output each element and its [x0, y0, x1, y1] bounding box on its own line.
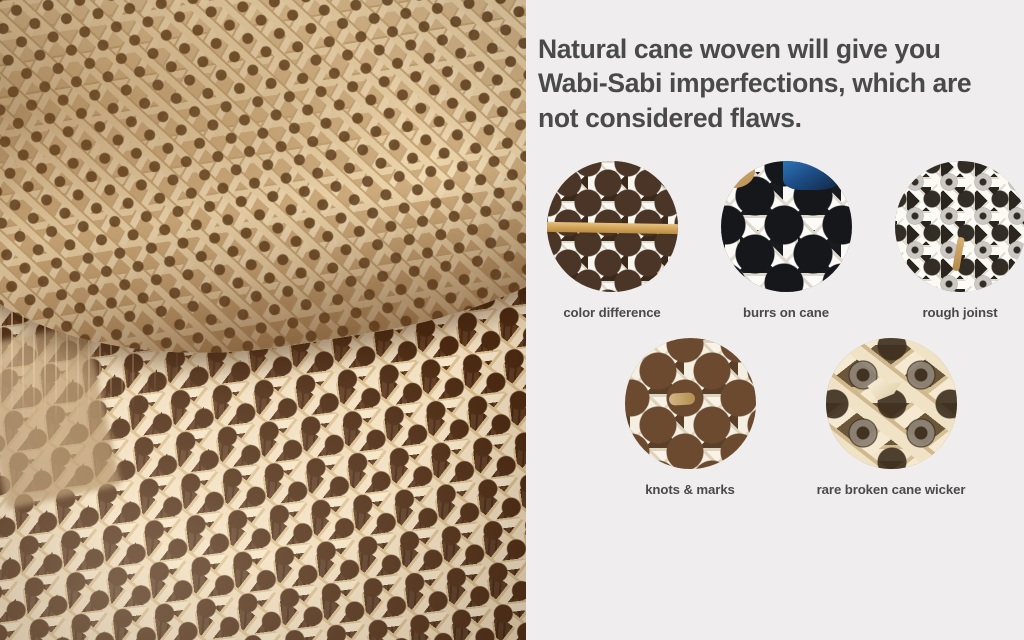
- examples-row-2: knots & marks rare broken cane wicker: [538, 338, 1024, 496]
- caption-rare-broken-cane-wicker: rare broken cane wicker: [817, 483, 966, 496]
- example-rare-broken-cane-wicker[interactable]: rare broken cane wicker: [802, 338, 980, 496]
- caption-knots-and-marks: knots & marks: [645, 483, 735, 496]
- thumbnail-burrs-on-cane[interactable]: [721, 161, 852, 292]
- photo-vignette: [0, 0, 526, 640]
- caption-burrs-on-cane: burrs on cane: [743, 306, 829, 319]
- caption-rough-joinst: rough joinst: [923, 306, 998, 319]
- knot-mark: [669, 392, 696, 405]
- thumbnail-knots-and-marks[interactable]: [625, 338, 756, 469]
- product-info-banner: Natural cane woven will give you Wabi-Sa…: [0, 0, 1024, 640]
- example-rough-joinst[interactable]: rough joinst: [890, 161, 1024, 319]
- thumbnail-rough-joinst[interactable]: [895, 161, 1024, 292]
- imperfection-examples: color difference burrs on cane: [538, 161, 1024, 495]
- info-panel: Natural cane woven will give you Wabi-Sa…: [526, 0, 1024, 640]
- example-burrs-on-cane[interactable]: burrs on cane: [716, 161, 856, 319]
- thumbnail-color-difference[interactable]: [547, 161, 678, 292]
- caption-color-difference: color difference: [563, 306, 660, 319]
- thumbnail-rare-broken-cane-wicker[interactable]: [826, 338, 957, 469]
- example-knots-and-marks[interactable]: knots & marks: [620, 338, 760, 496]
- blue-background-patch: [783, 161, 843, 190]
- page-title: Natural cane woven will give you Wabi-Sa…: [538, 32, 1008, 135]
- examples-row-1: color difference burrs on cane: [538, 161, 1024, 319]
- hero-cane-photo: [0, 0, 526, 640]
- example-color-difference[interactable]: color difference: [542, 161, 682, 319]
